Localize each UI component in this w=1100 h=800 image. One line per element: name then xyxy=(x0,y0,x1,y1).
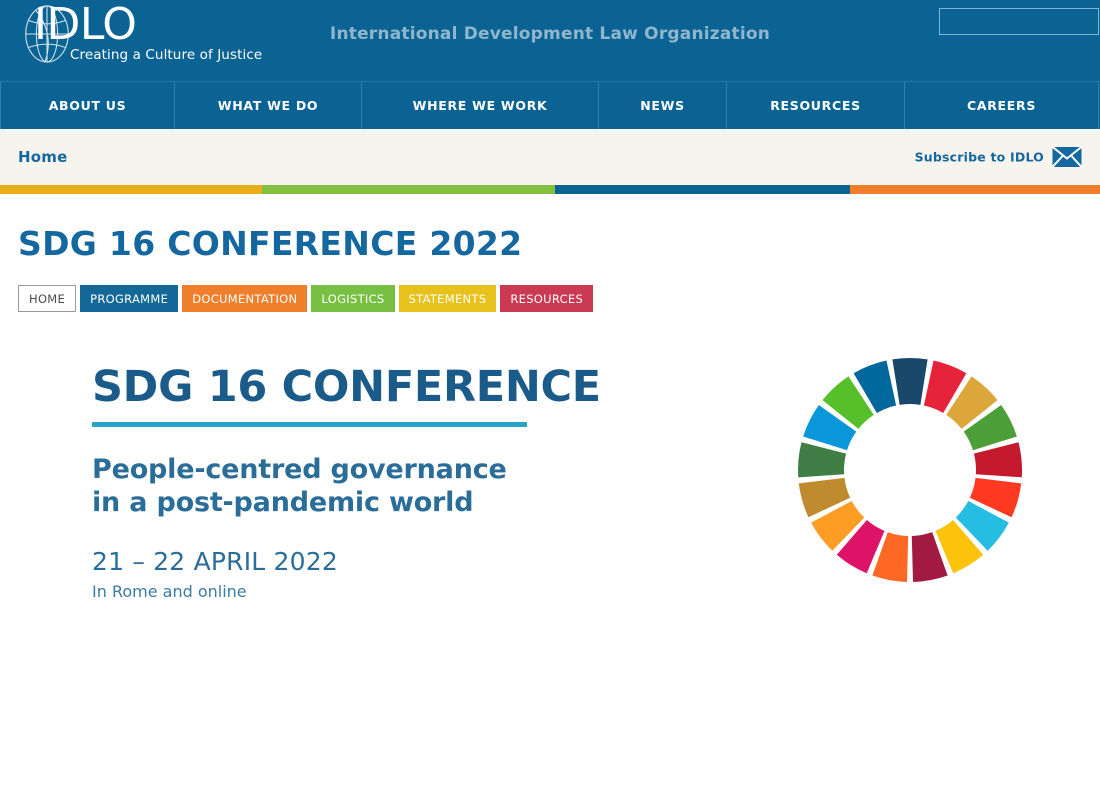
nav-item-resources[interactable]: RESOURCES xyxy=(727,82,905,129)
sdg-wheel-icon xyxy=(790,350,1030,590)
breadcrumb-home-link[interactable]: Home xyxy=(18,148,67,166)
search-input[interactable] xyxy=(940,9,1100,34)
subscribe-link[interactable]: Subscribe to IDLO xyxy=(915,147,1082,168)
page-title: SDG 16 CONFERENCE 2022 xyxy=(18,224,1100,263)
section-tabs: HOMEPROGRAMMEDOCUMENTATIONLOGISTICSSTATE… xyxy=(18,285,1100,312)
envelope-icon[interactable] xyxy=(1052,147,1082,168)
nav-item-where-we-work[interactable]: WHERE WE WORK xyxy=(362,82,599,129)
tab-resources[interactable]: RESOURCES xyxy=(500,285,593,312)
color-stripe xyxy=(0,185,1100,194)
banner-heading: SDG 16 CONFERENCE xyxy=(92,364,601,410)
nav-item-careers[interactable]: CAREERS xyxy=(905,82,1099,129)
logo-tagline: Creating a Culture of Justice xyxy=(70,47,262,63)
nav-item-news[interactable]: NEWS xyxy=(599,82,727,129)
banner-dates: 21 – 22 APRIL 2022 xyxy=(92,547,601,576)
subscribe-label: Subscribe to IDLO xyxy=(915,150,1044,165)
site-header: IDLO Creating a Culture of Justice Inter… xyxy=(0,0,1100,81)
banner-subheading: People-centred governance in a post-pand… xyxy=(92,453,601,519)
nav-item-what-we-do[interactable]: WHAT WE DO xyxy=(175,82,362,129)
stripe-segment-1 xyxy=(262,185,555,194)
tab-statements[interactable]: STATEMENTS xyxy=(399,285,497,312)
nav-item-about-us[interactable]: ABOUT US xyxy=(0,82,175,129)
main-navigation: ABOUT US WHAT WE DO WHERE WE WORK NEWS R… xyxy=(0,81,1100,129)
stripe-segment-3 xyxy=(850,185,1100,194)
page-body: SDG 16 CONFERENCE 2022 HOMEPROGRAMMEDOCU… xyxy=(0,224,1100,652)
banner-underline xyxy=(92,422,527,427)
breadcrumb-bar: Home Subscribe to IDLO xyxy=(0,129,1100,185)
tab-programme[interactable]: PROGRAMME xyxy=(80,285,178,312)
tab-documentation[interactable]: DOCUMENTATION xyxy=(182,285,307,312)
sdg-segment-17 xyxy=(892,358,927,405)
tab-home[interactable]: HOME xyxy=(18,285,76,312)
banner-subheading-line2: in a post-pandemic world xyxy=(92,486,601,519)
organization-title: International Development Law Organizati… xyxy=(0,24,1100,44)
stripe-segment-0 xyxy=(0,185,262,194)
tab-logistics[interactable]: LOGISTICS xyxy=(311,285,394,312)
stripe-segment-2 xyxy=(555,185,850,194)
conference-banner: SDG 16 CONFERENCE People-centred governa… xyxy=(0,342,1100,652)
banner-subheading-line1: People-centred governance xyxy=(92,453,601,486)
banner-location: In Rome and online xyxy=(92,582,601,601)
banner-text-block: SDG 16 CONFERENCE People-centred governa… xyxy=(92,364,601,601)
search-box[interactable] xyxy=(939,8,1099,35)
